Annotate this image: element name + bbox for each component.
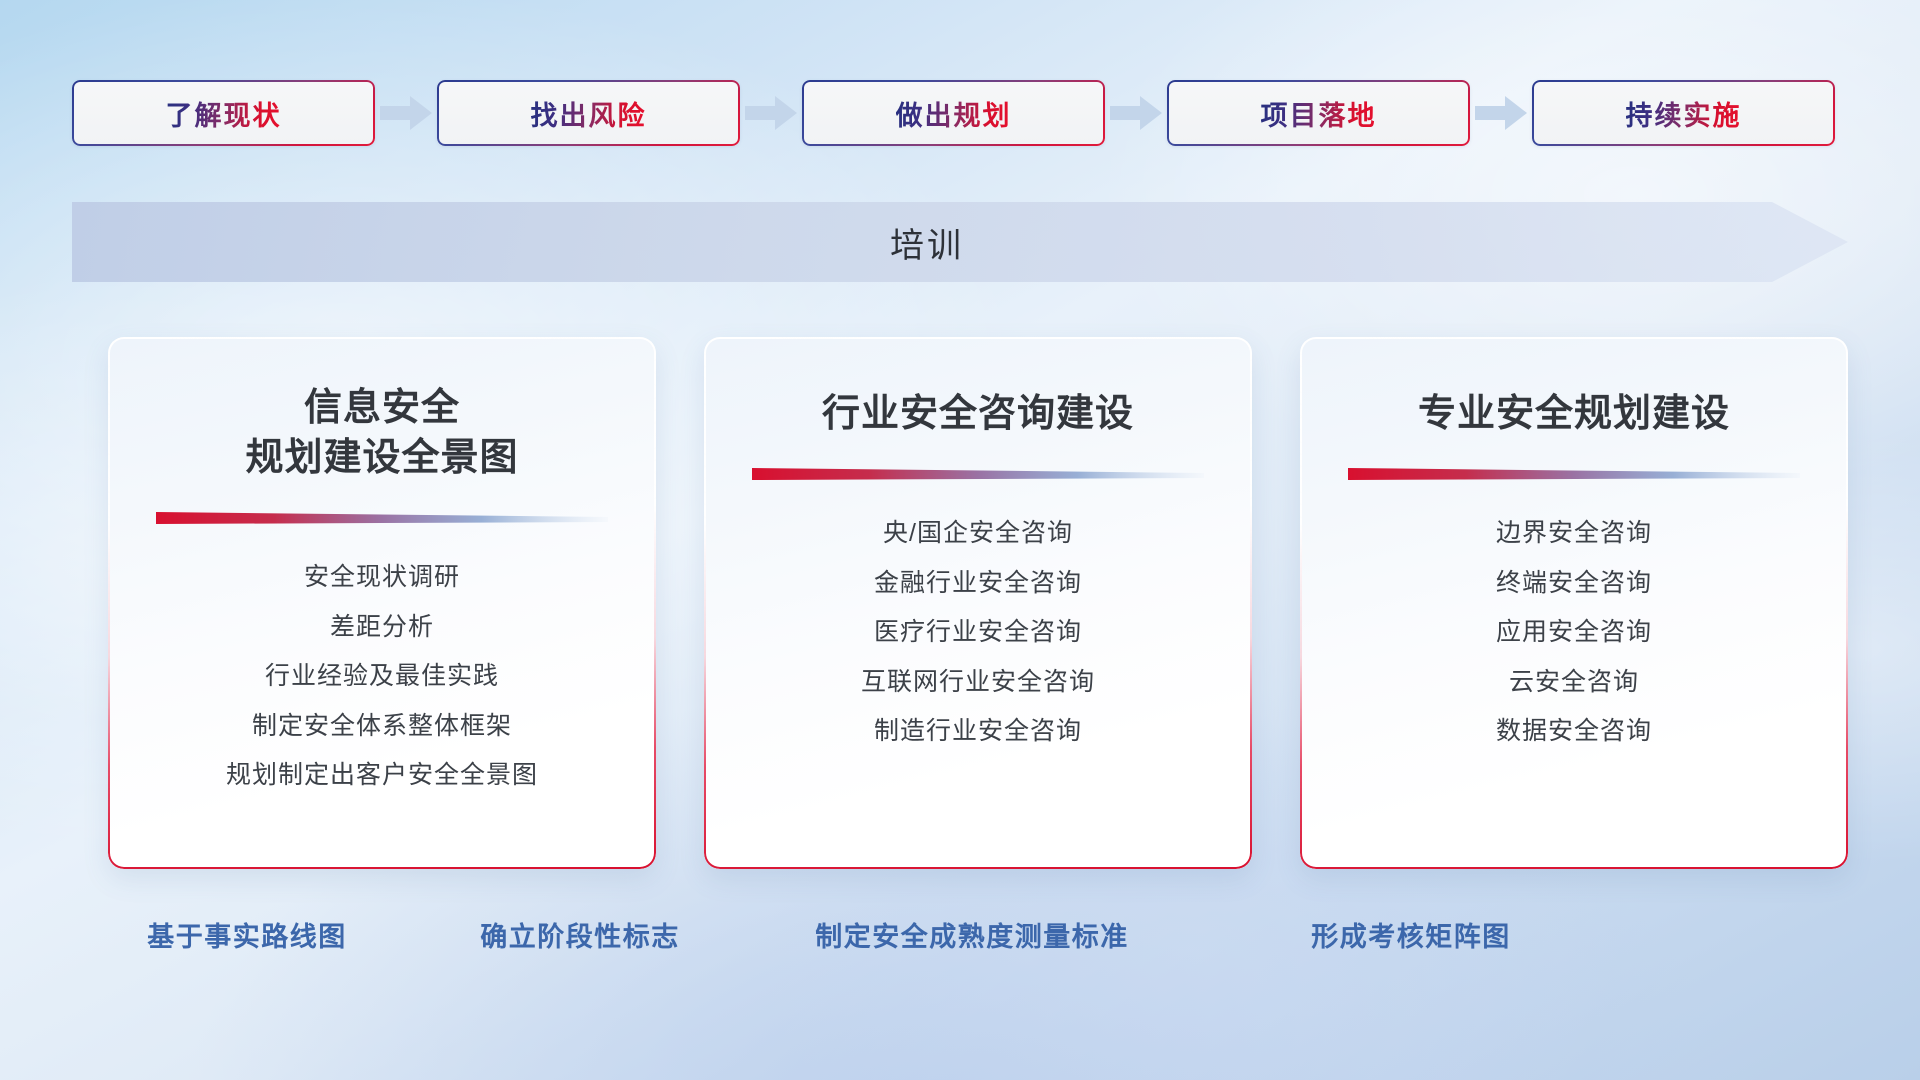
service-card-1-title: 信息安全 规划建设全景图 [245,383,518,483]
service-card-1[interactable]: 信息安全 规划建设全景图 安全现状调研 [108,337,656,869]
list-item: 金融行业安全咨询 [874,563,1082,605]
step-arrow-icon-2 [740,93,802,133]
step-arrow-icon-3 [1105,93,1167,133]
list-item: 边界安全咨询 [1496,513,1652,555]
list-item: 安全现状调研 [304,557,460,599]
process-step-3-label: 做出规划 [896,94,1012,133]
process-step-1[interactable]: 了解现状 [72,80,375,146]
list-item: 差距分析 [330,607,434,649]
outcome-caption-row: 基于事实路线图 确立阶段性标志 制定安全成熟度测量标准 形成考核矩阵图 [0,915,1920,963]
service-card-2-title: 行业安全咨询建设 [822,389,1134,439]
training-banner-label: 培训 [890,218,964,267]
service-card-3-title: 专业安全规划建设 [1418,389,1730,439]
process-step-2[interactable]: 找出风险 [437,80,740,146]
outcome-caption-2: 确立阶段性标志 [480,915,680,954]
service-card-2-inner: 行业安全咨询建设 央/国企安全咨询 [704,337,1252,869]
service-card-1-list: 安全现状调研 差距分析 行业经验及最佳实践 制定安全体系整体框架 规划制定出客户… [226,557,538,797]
service-card-3-divider-icon [1348,465,1800,487]
service-card-2-list: 央/国企安全咨询 金融行业安全咨询 医疗行业安全咨询 互联网行业安全咨询 制造行… [861,513,1095,753]
process-step-5[interactable]: 持续实施 [1532,80,1835,146]
list-item: 云安全咨询 [1509,662,1639,704]
list-item: 终端安全咨询 [1496,563,1652,605]
service-card-3[interactable]: 专业安全规划建设 边界安全咨询 [1300,337,1848,869]
process-step-4[interactable]: 项目落地 [1167,80,1470,146]
training-banner-label-wrap: 培训 [72,202,1782,282]
list-item: 互联网行业安全咨询 [861,662,1095,704]
process-step-3[interactable]: 做出规划 [802,80,1105,146]
list-item: 医疗行业安全咨询 [874,612,1082,654]
service-card-2[interactable]: 行业安全咨询建设 央/国企安全咨询 [704,337,1252,869]
outcome-caption-3: 制定安全成熟度测量标准 [815,915,1129,954]
list-item: 应用安全咨询 [1496,612,1652,654]
outcome-caption-1: 基于事实路线图 [147,915,347,954]
service-card-2-divider-icon [752,465,1204,487]
service-card-3-list: 边界安全咨询 终端安全咨询 应用安全咨询 云安全咨询 数据安全咨询 [1496,513,1652,753]
training-banner: 培训 [72,202,1848,282]
process-step-2-label: 找出风险 [531,94,647,133]
outcome-caption-4: 形成考核矩阵图 [1311,915,1511,954]
list-item: 央/国企安全咨询 [883,513,1073,555]
step-arrow-icon-1 [375,93,437,133]
list-item: 行业经验及最佳实践 [265,656,499,698]
list-item: 规划制定出客户安全全景图 [226,755,538,797]
process-step-1-label: 了解现状 [166,94,282,133]
list-item: 制造行业安全咨询 [874,711,1082,753]
process-step-5-label: 持续实施 [1626,94,1742,133]
step-arrow-icon-4 [1470,93,1532,133]
process-step-4-label: 项目落地 [1261,94,1377,133]
service-card-3-inner: 专业安全规划建设 边界安全咨询 [1300,337,1848,869]
process-step-row: 了解现状 找出风险 做出规划 项目落地 持续实施 [72,78,1848,148]
service-card-1-inner: 信息安全 规划建设全景图 安全现状调研 [108,337,656,869]
service-card-row: 信息安全 规划建设全景图 安全现状调研 [108,337,1848,869]
service-card-1-divider-icon [156,509,608,531]
list-item: 制定安全体系整体框架 [252,706,512,748]
list-item: 数据安全咨询 [1496,711,1652,753]
